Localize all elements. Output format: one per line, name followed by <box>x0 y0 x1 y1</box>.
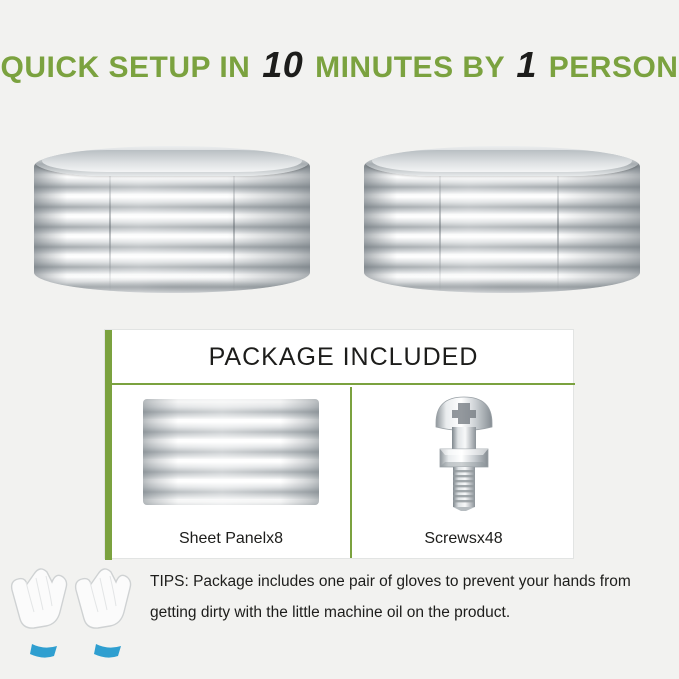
package-item-sheet-panel: Sheet Panelx8 <box>112 387 350 558</box>
screw-icon <box>414 393 514 511</box>
package-item-screws: Screwsx48 <box>352 387 575 558</box>
tips-text: TIPS: Package includes one pair of glove… <box>150 566 660 628</box>
bed-right-rim <box>364 146 640 176</box>
bed-right-rim-inner <box>372 150 632 172</box>
sheet-panel-icon <box>143 399 319 505</box>
headline-part-2: MINUTES BY <box>315 51 504 84</box>
bed-left-shadow <box>51 279 294 293</box>
package-title: PACKAGE INCLUDED <box>112 330 575 385</box>
package-included-panel: PACKAGE INCLUDED Sheet Panelx8 <box>104 329 574 559</box>
package-item-caption: Sheet Panelx8 <box>112 530 350 548</box>
bed-left-seam-2 <box>233 160 235 293</box>
headline-part-1: QUICK SETUP IN <box>1 51 251 84</box>
work-gloves-icon <box>10 560 140 670</box>
package-green-accent-bar <box>105 330 112 560</box>
bed-right-seam-2 <box>557 160 559 293</box>
page-headline: QUICK SETUP IN 10 MINUTES BY 1 PERSON <box>0 44 679 86</box>
bed-left-seam-1 <box>109 160 111 293</box>
bed-left-rim-inner <box>42 150 302 172</box>
garden-bed-left-image <box>34 146 310 293</box>
headline-highlight-minutes: 10 <box>259 44 306 85</box>
package-item-caption: Screwsx48 <box>352 530 575 548</box>
headline-part-3: PERSON <box>549 51 679 84</box>
headline-highlight-person: 1 <box>513 44 540 85</box>
bed-left-rim <box>34 146 310 176</box>
garden-bed-right-image <box>364 146 640 293</box>
bed-right-seam-1 <box>439 160 441 293</box>
bed-right-shadow <box>381 279 624 293</box>
